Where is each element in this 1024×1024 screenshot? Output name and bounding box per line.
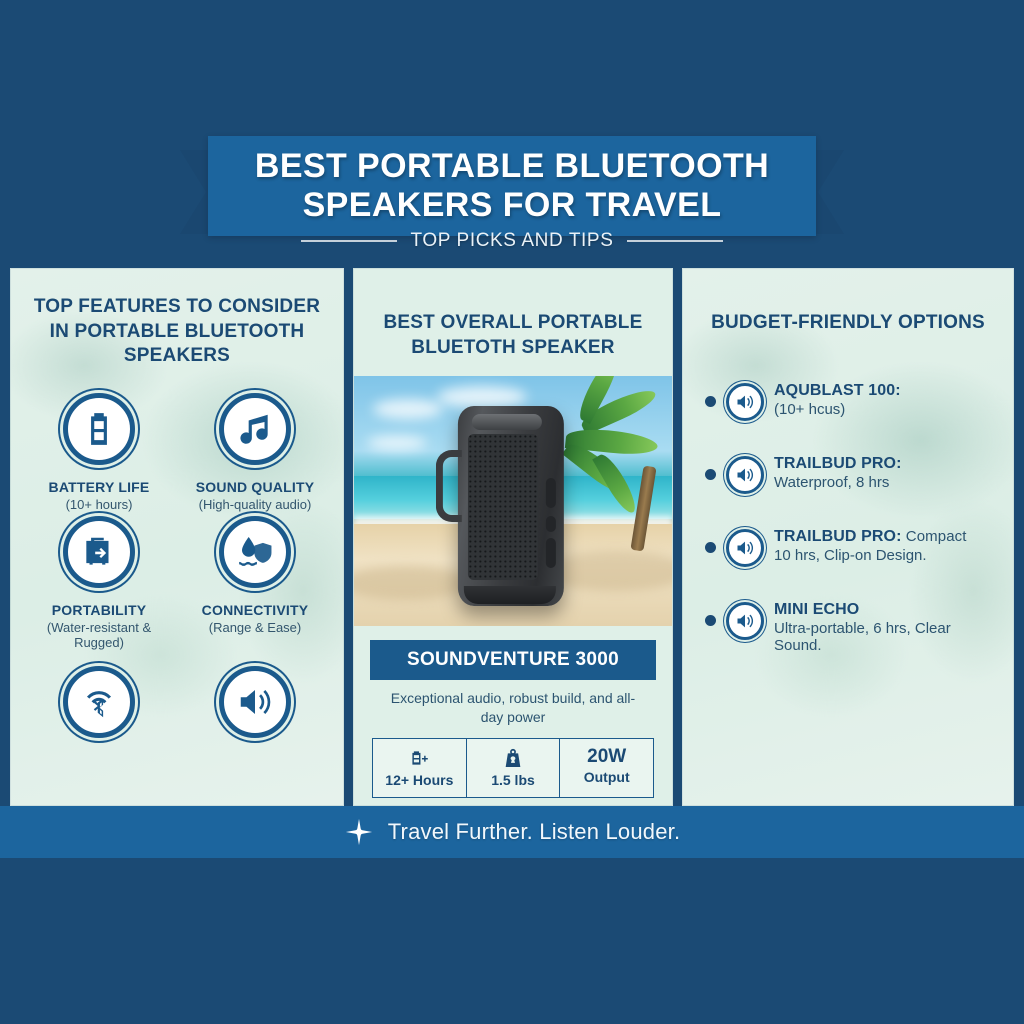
product-detail: 10 hrs, Clip-on Design. xyxy=(774,547,967,564)
battery-plus-icon xyxy=(408,747,430,769)
compass-star-icon xyxy=(344,817,374,847)
suitcase-icon xyxy=(63,516,135,588)
product-detail: Waterproof, 8 hrs xyxy=(774,474,902,491)
feature-sublabel: (10+ hours) xyxy=(66,497,133,512)
banner-plate: BEST PORTABLE BLUETOOTH SPEAKERS FOR TRA… xyxy=(208,136,816,236)
footer-tagline: Travel Further. Listen Louder. xyxy=(388,819,681,845)
product-inline-detail: Compact xyxy=(902,528,967,545)
speaker-wrist-strap xyxy=(436,450,462,522)
list-item-text: TRAILBUD PRO: Compact 10 hrs, Clip-on De… xyxy=(774,526,967,564)
subtitle-row: TOP PICKS AND TIPS xyxy=(0,230,1024,252)
infographic-root: BEST PORTABLE BLUETOOTH SPEAKERS FOR TRA… xyxy=(0,0,1024,1024)
budget-list: AQUBLAST 100: (10+ hcus) TRAILBUD PRO: W… xyxy=(683,380,1013,654)
product-name: MINI ECHO xyxy=(774,601,997,619)
feature-label: BATTERY LIFE xyxy=(49,479,150,495)
spec-label: 12+ Hours xyxy=(375,772,464,788)
page-title-line1: BEST PORTABLE BLUETOOTH xyxy=(255,147,769,185)
list-item-text: TRAILBUD PRO: Waterproof, 8 hrs xyxy=(774,453,902,491)
speaker-volume-icon xyxy=(726,602,764,640)
feature-connectivity[interactable]: CONNECTIVITY (Range & Ease) xyxy=(177,516,333,650)
page-subtitle: TOP PICKS AND TIPS xyxy=(411,230,614,252)
subtitle-rule-left xyxy=(301,240,397,242)
speaker-product-image xyxy=(458,406,564,606)
bullet-dot xyxy=(705,615,716,626)
feature-label: PORTABILITY xyxy=(52,602,147,618)
feature-battery-life[interactable]: BATTERY LIFE (10+ hours) xyxy=(21,393,177,512)
list-item[interactable]: MINI ECHO Ultra-portable, 6 hrs, Clear S… xyxy=(705,599,997,654)
water-shield-icon xyxy=(219,516,291,588)
feature-sublabel: (High-quality audio) xyxy=(199,497,312,512)
feature-portability[interactable]: PORTABILITY (Water-resistant & Rugged) xyxy=(21,516,177,650)
feature-sublabel: (Range & Ease) xyxy=(209,620,302,635)
feature-label: SOUND QUALITY xyxy=(196,479,315,495)
spec-label: Output xyxy=(562,769,651,785)
hero-panel-heading: BEST OVERALL PORTABLE BLUETOTH SPEAKER xyxy=(354,311,672,360)
subtitle-rule-right xyxy=(627,240,723,242)
product-name: TRAILBUD PRO: xyxy=(774,455,902,473)
feature-bluetooth-wireless[interactable] xyxy=(21,654,177,754)
music-note-icon xyxy=(219,393,291,465)
battery-icon xyxy=(63,393,135,465)
features-panel-heading: TOP FEATURES TO CONSIDER IN PORTABLE BLU… xyxy=(11,295,343,369)
weight-icon xyxy=(502,747,524,769)
page-title: BEST PORTABLE BLUETOOTH SPEAKERS FOR TRA… xyxy=(255,147,769,225)
bullet-dot xyxy=(705,469,716,480)
bullet-dot xyxy=(705,396,716,407)
budget-panel-heading: BUDGET-FRIENDLY OPTIONS xyxy=(683,311,1013,336)
list-item[interactable]: AQUBLAST 100: (10+ hcus) xyxy=(705,380,997,421)
feature-sublabel: (Water-resistant & Rugged) xyxy=(21,620,177,650)
speaker-volume-icon xyxy=(726,529,764,567)
footer-bar: Travel Further. Listen Louder. xyxy=(0,806,1024,858)
feature-speaker-volume[interactable] xyxy=(177,654,333,754)
product-description: Exceptional audio, robust build, and all… xyxy=(354,680,672,727)
bullet-dot xyxy=(705,542,716,553)
panels-container: TOP FEATURES TO CONSIDER IN PORTABLE BLU… xyxy=(10,268,1014,806)
list-item[interactable]: TRAILBUD PRO: Waterproof, 8 hrs xyxy=(705,453,997,494)
speaker-volume-icon xyxy=(219,666,291,738)
bluetooth-wireless-icon xyxy=(63,666,135,738)
feature-label: CONNECTIVITY xyxy=(202,602,309,618)
hero-panel: BEST OVERALL PORTABLE BLUETOTH SPEAKER xyxy=(353,268,673,806)
features-grid: BATTERY LIFE (10+ hours) SOUND QUALITY (… xyxy=(11,393,343,754)
product-name-band: SOUNDVENTURE 3000 xyxy=(370,640,656,680)
speaker-volume-icon xyxy=(726,383,764,421)
list-item[interactable]: TRAILBUD PRO: Compact 10 hrs, Clip-on De… xyxy=(705,526,997,567)
spec-output: 20W Output xyxy=(560,739,653,797)
page-title-line2: SPEAKERS FOR TRAVEL xyxy=(303,186,722,224)
spec-battery: 12+ Hours xyxy=(373,739,467,797)
speaker-volume-icon xyxy=(726,456,764,494)
product-name: TRAILBUD PRO: Compact xyxy=(774,528,967,546)
features-panel: TOP FEATURES TO CONSIDER IN PORTABLE BLU… xyxy=(10,268,344,806)
spec-weight: 1.5 lbs xyxy=(467,739,561,797)
spec-value: 20W xyxy=(562,747,651,767)
spec-row: 12+ Hours 1.5 lbs 20W Output xyxy=(372,738,654,798)
spec-label: 1.5 lbs xyxy=(469,772,558,788)
budget-panel: BUDGET-FRIENDLY OPTIONS AQUBLAST 100: (1… xyxy=(682,268,1014,806)
product-detail: Ultra-portable, 6 hrs, Clear Sound. xyxy=(774,620,997,654)
list-item-text: MINI ECHO Ultra-portable, 6 hrs, Clear S… xyxy=(774,599,997,654)
product-name: AQUBLAST 100: xyxy=(774,382,901,400)
feature-sound-quality[interactable]: SOUND QUALITY (High-quality audio) xyxy=(177,393,333,512)
list-item-text: AQUBLAST 100: (10+ hcus) xyxy=(774,380,901,418)
product-detail: (10+ hcus) xyxy=(774,401,901,418)
hero-product-photo xyxy=(354,376,672,626)
